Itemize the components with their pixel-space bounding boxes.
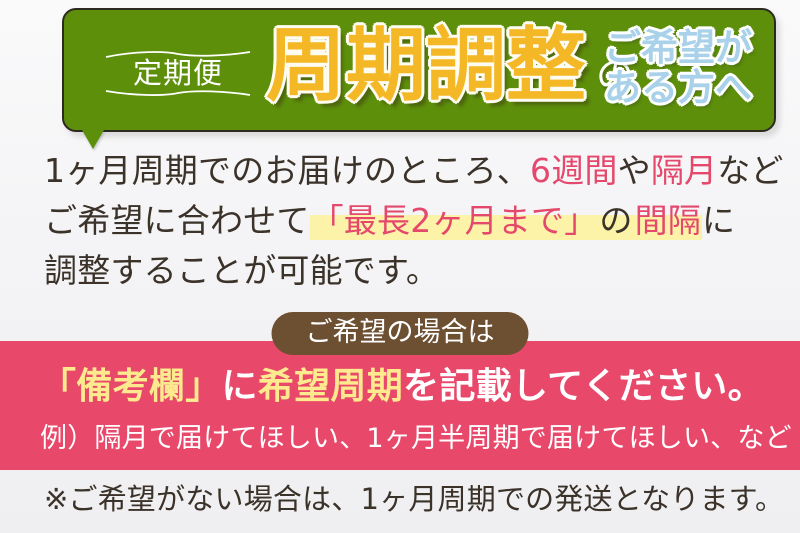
body-line2-part-a: ご希望に合わせて xyxy=(44,201,310,240)
instruction-part-b: に xyxy=(222,366,258,407)
header-audience-line-1: ご希望が xyxy=(604,28,752,68)
body-line1-emphasis-bimonthly: 隔月 xyxy=(651,151,717,190)
header-audience-note: ご希望が ある方へ xyxy=(604,28,752,108)
body-line2-part-c: の xyxy=(598,201,633,240)
body-copy-line-2: ご希望に合わせて「最長2ヶ月まで」の間隔に xyxy=(44,196,774,246)
header-title-group: 周期調整 の xyxy=(266,26,634,106)
body-line1-part-c: や xyxy=(618,151,651,190)
promotional-banner: 定期便 周期調整 の ご希望が ある方へ 1ヶ月周期でのお届けのところ、6週間や… xyxy=(0,0,800,533)
instruction-part-d: を記載してください。 xyxy=(403,366,764,407)
body-line1-part-e: など xyxy=(717,151,783,190)
instruction-band: 「備考欄」に希望周期を記載してください。 例）隔月で届けてほしい、1ヶ月半周期で… xyxy=(0,341,800,470)
body-line2-emphasis-interval: 間隔 xyxy=(634,201,702,240)
footnote: ※ご希望がない場合は、1ヶ月周期での発送となります。 xyxy=(44,485,784,514)
page-title: 周期調整 xyxy=(266,26,586,106)
body-copy-line-3: 調整することが可能です。 xyxy=(44,246,774,296)
body-line2-emphasis-maxperiod: 「最長2ヶ月まで」 xyxy=(310,201,599,240)
subscription-label-group: 定期便 xyxy=(102,38,254,108)
instruction-examples: 例）隔月で届けてほしい、1ヶ月半周期で届けてほしい、など xyxy=(40,425,792,452)
body-line1-emphasis-6weeks: 6週間 xyxy=(530,151,618,190)
subscription-label: 定期便 xyxy=(133,59,223,88)
instruction-emphasis-cycle: 希望周期 xyxy=(258,366,403,407)
body-line2-part-e: に xyxy=(702,201,735,240)
wavy-rule-bottom-icon xyxy=(105,88,251,97)
header-speech-bubble: 定期便 周期調整 の ご希望が ある方へ xyxy=(62,8,776,132)
body-copy: 1ヶ月周期でのお届けのところ、6週間や隔月など ご希望に合わせて「最長2ヶ月まで… xyxy=(44,146,774,296)
instruction-emphasis-remarks: 「備考欄」 xyxy=(40,366,222,407)
body-line1-part-a: 1ヶ月周期でのお届けのところ、 xyxy=(44,151,530,190)
instruction-headline: 「備考欄」に希望周期を記載してください。 xyxy=(40,369,764,405)
status-badge: ご希望の場合は xyxy=(272,312,529,355)
body-copy-line-1: 1ヶ月周期でのお届けのところ、6週間や隔月など xyxy=(44,146,774,196)
speech-bubble-tail-icon xyxy=(82,130,104,149)
header-panel: 定期便 周期調整 の ご希望が ある方へ xyxy=(62,8,776,132)
header-audience-line-2: ある方へ xyxy=(604,68,752,108)
